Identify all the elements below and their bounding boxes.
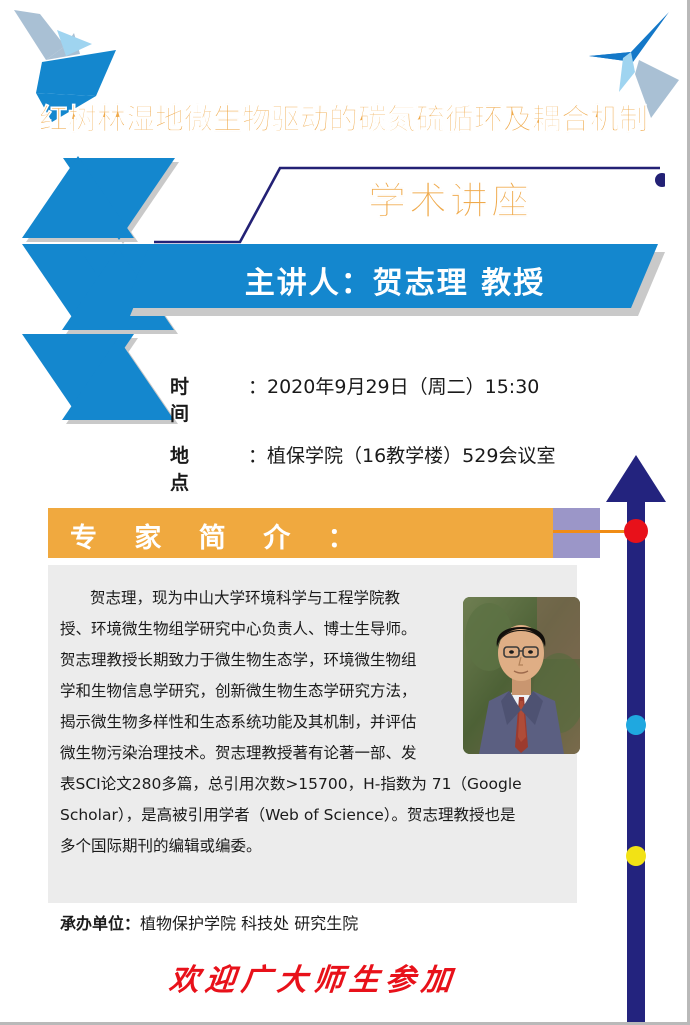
lecture-type-title: 学术讲座 [300,170,600,225]
expert-section-title: 专 家 简 介 ： [70,516,369,555]
event-time-value: ：2020年9月29日（周二）15:30 [248,372,539,399]
event-location-row: 地点 ：植保学院（16教学楼）529会议室 [170,441,640,495]
arrow-dot-red [624,519,648,543]
event-time-label: 时间 [170,372,248,426]
arrow-dot-yellow [626,846,646,866]
host-units-line: 承办单位：植物保护学院 科技处 研究生院 [60,910,358,934]
up-arrow-icon [600,450,670,1025]
expert-bar-purple [553,508,600,558]
host-units: 植物保护学院 科技处 研究生院 [140,914,358,933]
bio-line: Scholar），是高被引用学者（Web of Science）。贺志理教授也是 [60,800,580,831]
speaker-name: 主讲人：贺志理 教授 [215,258,575,302]
bio-line: 多个国际期刊的编辑或编委。 [60,831,580,862]
speaker-portrait-photo [463,597,580,754]
event-location-label: 地点 [170,441,248,495]
page-title: 红树林湿地微生物驱动的碳氮硫循环及耦合机制 [0,96,687,138]
event-time-row: 时间 ：2020年9月29日（周二）15:30 [170,372,640,426]
host-label: 承办单位： [60,914,140,933]
event-info-block: 时间 ：2020年9月29日（周二）15:30 地点 ：植保学院（16教学楼）5… [170,372,640,510]
welcome-message: 欢迎广大师生参加 [0,955,629,999]
bio-line: 表SCI论文280多篇，总引用次数>15700，H-指数为 71（Google [60,769,580,800]
arrow-dot-cyan [626,715,646,735]
event-location-value: ：植保学院（16教学楼）529会议室 [248,441,555,468]
poster-canvas: 红树林湿地微生物驱动的碳氮硫循环及耦合机制 学术讲座 [0,0,690,1025]
